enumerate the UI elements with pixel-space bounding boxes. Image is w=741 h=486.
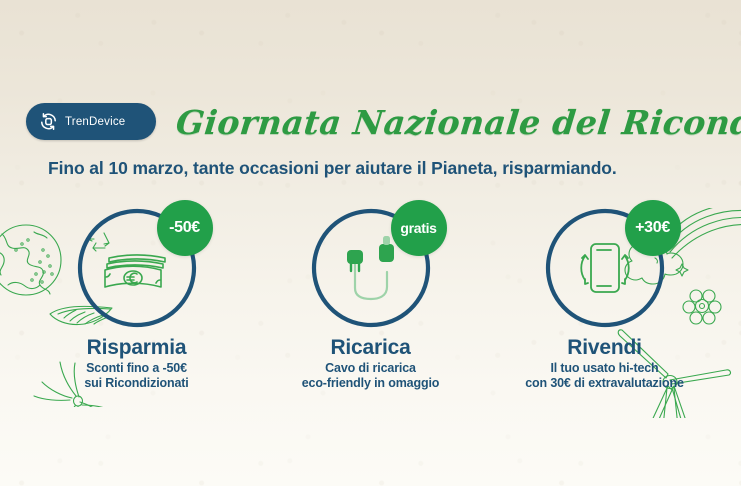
recycle-refresh-icon xyxy=(39,112,58,131)
feature-icon-circle: -50€ xyxy=(75,206,199,330)
promo-banner: TrenDevice Giornata Nazionale del Ricond… xyxy=(0,0,741,486)
subtitle: Fino al 10 marzo, tante occasioni per ai… xyxy=(48,158,708,179)
features-row: -50€ Risparmia Sconti fino a -50€ sui Ri… xyxy=(0,206,741,406)
feature-icon-circle: gratis xyxy=(309,206,433,330)
feature-title: Ricarica xyxy=(330,336,410,360)
feature-description: Sconti fino a -50€ sui Ricondizionati xyxy=(84,361,188,390)
feature-risparmia[interactable]: -50€ Risparmia Sconti fino a -50€ sui Ri… xyxy=(48,206,226,390)
badge-gratis: gratis xyxy=(391,200,447,256)
feature-ricarica[interactable]: gratis Ricarica Cavo di ricarica eco-fri… xyxy=(282,206,460,390)
feature-title: Risparmia xyxy=(87,336,187,360)
page-title: Giornata Nazionale del Ricondizionato xyxy=(173,98,723,150)
logo-wordmark: TrenDevice xyxy=(65,116,125,128)
feature-description: Cavo di ricarica eco-friendly in omaggio xyxy=(302,361,440,390)
badge-bonus: +30€ xyxy=(625,200,681,256)
feature-description: Il tuo usato hi-tech con 30€ di extraval… xyxy=(525,361,684,390)
trendevice-logo[interactable]: TrenDevice xyxy=(26,103,156,140)
feature-title: Rivendi xyxy=(567,336,641,360)
feature-icon-circle: +30€ xyxy=(543,206,667,330)
feature-rivendi[interactable]: +30€ Rivendi Il tuo usato hi-tech con 30… xyxy=(516,206,694,390)
badge-discount: -50€ xyxy=(157,200,213,256)
